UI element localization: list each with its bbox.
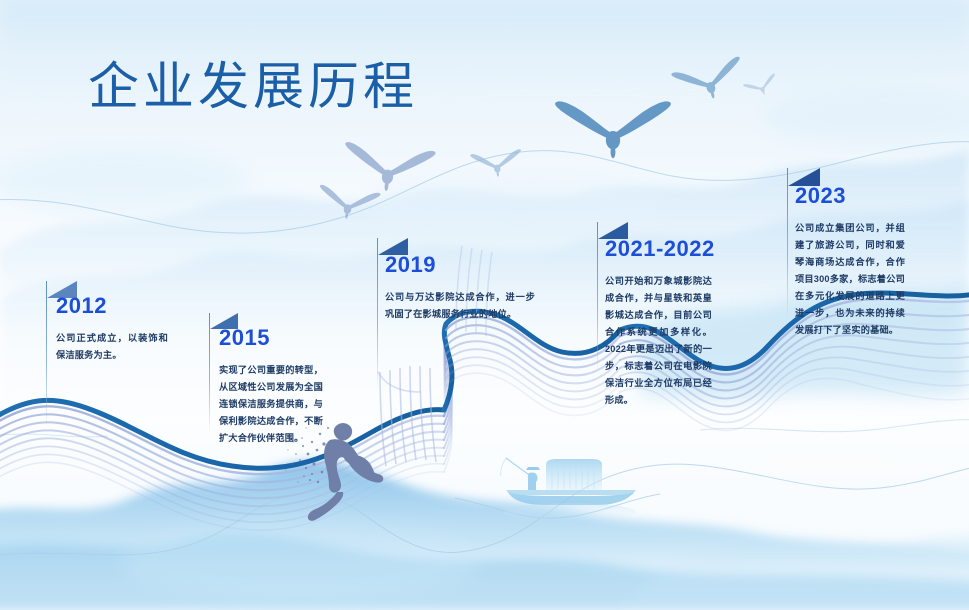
page-title: 企业发展历程: [88, 58, 418, 117]
flag-pole: [209, 313, 210, 433]
flag-pole: [377, 238, 378, 390]
milestone-description: 公司与万达影院达成合作，进一步巩固了在影城服务行业的地位。: [385, 289, 535, 323]
milestone-description: 公司成立集团公司，并组建了旅游公司，同时和爱琴海商场达成合作，合作项目300多家…: [795, 220, 905, 339]
milestone-description: 实现了公司重要的转型，从区域性公司发展为全国连锁保洁服务提供商，与保利影院达成合…: [219, 362, 323, 447]
timeline-poster: 企业发展历程 2012 公司正式成立，以装饰和保洁服务为主。 2015 实现了公…: [0, 0, 969, 610]
milestone-2023: 2023 公司成立集团公司，并组建了旅游公司，同时和爱琴海商场达成合作，合作项目…: [795, 185, 911, 339]
flag-pole: [787, 168, 788, 320]
flag-pole: [597, 222, 598, 372]
milestone-year: 2012: [56, 295, 174, 317]
milestone-2021-2022: 2021-2022 公司开始和万象城影院达成合作，并与星轶和英皇影城达成合作，目…: [605, 238, 717, 409]
flag-pole: [46, 281, 47, 427]
milestone-year: 2023: [795, 185, 911, 207]
milestone-year: 2015: [219, 327, 331, 349]
milestone-description: 公司正式成立，以装饰和保洁服务为主。: [56, 330, 168, 364]
milestone-2012: 2012 公司正式成立，以装饰和保洁服务为主。: [56, 295, 174, 364]
milestone-year: 2021-2022: [605, 238, 717, 260]
milestone-year: 2019: [385, 254, 537, 276]
milestone-2019: 2019 公司与万达影院达成合作，进一步巩固了在影城服务行业的地位。: [385, 254, 537, 323]
milestone-2015: 2015 实现了公司重要的转型，从区域性公司发展为全国连锁保洁服务提供商，与保利…: [219, 327, 331, 447]
milestone-description: 公司开始和万象城影院达成合作，并与星轶和英皇影城达成合作，目前公司合作系统更加多…: [605, 273, 712, 409]
